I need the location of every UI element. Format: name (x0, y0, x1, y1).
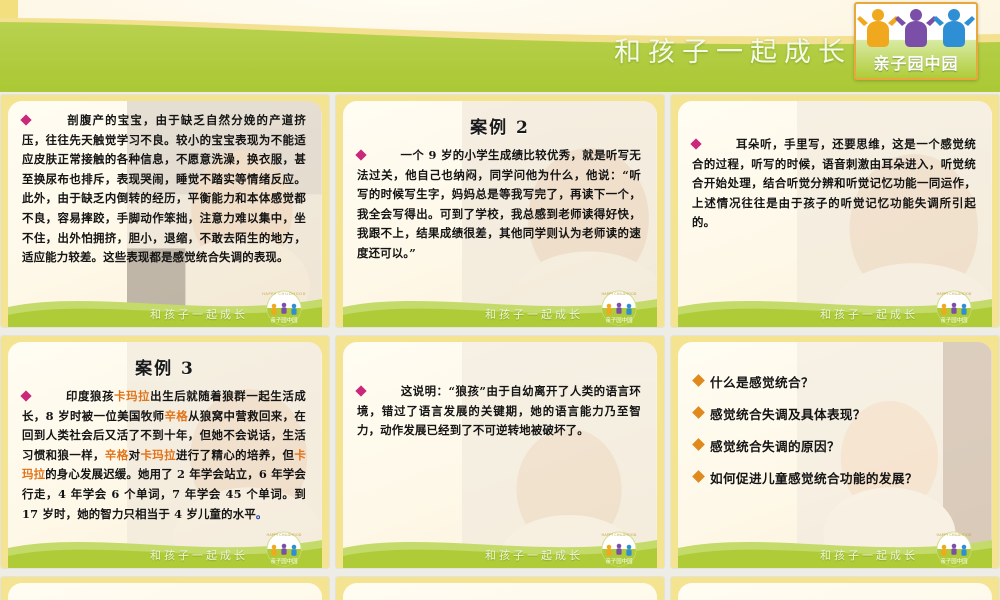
page-title: 和孩子一起成长 (614, 30, 852, 69)
slide-thumbnail-2[interactable]: 案例 2 一个 9 岁的小学生成绩比较优秀，就是听写无法过关，他自己也纳闷，同学… (336, 95, 664, 327)
slide-2-footer: 和孩子一起成长 亲子园中园 HAPPY CHILDHOOD (343, 285, 657, 327)
slide-thumbnail-9[interactable] (671, 577, 999, 600)
list-item: 什么是感觉统合？ (694, 372, 978, 391)
svg-text:亲子园中园: 亲子园中园 (271, 316, 298, 324)
slide-1-footer: 和孩子一起成长 亲子园中园 HAPPY CHILDHOOD (8, 285, 322, 327)
brand-logo: 亲子园中园 (854, 2, 978, 80)
slide-2-body: 一个 9 岁的小学生成绩比较优秀，就是听写无法过关，他自己也纳闷，同学问他为什么… (357, 138, 641, 264)
svg-text:亲子园中园: 亲子园中园 (606, 557, 633, 565)
slide-2-title: 案例 2 (343, 113, 657, 138)
slide-thumbnail-4[interactable]: 案例 3 印度狼孩卡玛拉出生后就随着狼群一起生活成长，8 岁时被一位美国牧师辛格… (1, 336, 329, 568)
footer-badge-logo: 亲子园中园 HAPPY CHILDHOOD (256, 286, 312, 326)
footer-badge-logo: 亲子园中园 HAPPY CHILDHOOD (591, 286, 647, 326)
slide-thumbnail-1[interactable]: 剖腹产的宝宝，由于缺乏自然分娩的产道挤压，往往先天触觉学习不良。较小的宝宝表现为… (1, 95, 329, 327)
slide-row-1: 剖腹产的宝宝，由于缺乏自然分娩的产道挤压，往往先天触觉学习不良。较小的宝宝表现为… (0, 95, 1000, 327)
svg-text:HAPPY CHILDHOOD: HAPPY CHILDHOOD (937, 533, 972, 537)
bullet-diamond-icon (692, 406, 705, 419)
logo-brand-text: 亲子园中园 (856, 50, 976, 74)
bullet-diamond-icon (355, 149, 366, 160)
svg-text:HAPPY CHILDHOOD: HAPPY CHILDHOOD (267, 533, 302, 537)
slide-6-question-list: 什么是感觉统合？ 感觉统合失调及具体表现？ 感觉统合失调的原因？ 如何促进儿童感… (678, 342, 992, 487)
footer-tagline: 和孩子一起成长 (150, 306, 248, 322)
footer-badge-logo: 亲子园中园 HAPPY CHILDHOOD (256, 527, 312, 567)
bullet-diamond-icon (692, 470, 705, 483)
logo-figures-icon (856, 6, 976, 48)
slide-6-footer: 和孩子一起成长 亲子园中园 HAPPY CHILDHOOD (678, 526, 992, 568)
slide-row-2: 案例 3 印度狼孩卡玛拉出生后就随着狼群一起生活成长，8 岁时被一位美国牧师辛格… (0, 336, 1000, 568)
svg-text:亲子园中园: 亲子园中园 (271, 557, 298, 565)
slide-thumbnail-8[interactable] (336, 577, 664, 600)
svg-text:HAPPY CHILDHOOD: HAPPY CHILDHOOD (602, 533, 637, 537)
footer-tagline: 和孩子一起成长 (820, 547, 918, 563)
footer-badge-logo: 亲子园中园 HAPPY CHILDHOOD (926, 527, 982, 567)
slide-3-body: 耳朵听，手里写，还要思维，这是一个感觉统合的过程，听写的时候，语音刺激由耳朵进入… (692, 101, 976, 233)
bullet-diamond-icon (690, 138, 701, 149)
slide-sorter-view: 和孩子一起成长 亲子园中园 (0, 0, 1000, 600)
bullet-diamond-icon (692, 438, 705, 451)
list-item: 感觉统合失调及具体表现？ (694, 404, 978, 423)
svg-text:亲子园中园: 亲子园中园 (941, 557, 968, 565)
slide-4-rich-text: 印度狼孩卡玛拉出生后就随着狼群一起生活成长，8 岁时被一位美国牧师辛格从狼窝中营… (22, 389, 306, 521)
slide-4-body: 印度狼孩卡玛拉出生后就随着狼群一起生活成长，8 岁时被一位美国牧师辛格从狼窝中营… (22, 379, 306, 524)
footer-tagline: 和孩子一起成长 (820, 306, 918, 322)
svg-text:HAPPY CHILDHOOD: HAPPY CHILDHOOD (602, 292, 637, 296)
header-banner: 和孩子一起成长 亲子园中园 (0, 0, 1000, 92)
slide-thumbnail-3[interactable]: 耳朵听，手里写，还要思维，这是一个感觉统合的过程，听写的时候，语音刺激由耳朵进入… (671, 95, 999, 327)
slide-thumbnail-7[interactable] (1, 577, 329, 600)
slide-5-footer: 和孩子一起成长 亲子园中园 HAPPY CHILDHOOD (343, 526, 657, 568)
svg-text:HAPPY CHILDHOOD: HAPPY CHILDHOOD (262, 292, 306, 296)
footer-tagline: 和孩子一起成长 (485, 547, 583, 563)
slide-4-footer: 和孩子一起成长 亲子园中园 HAPPY CHILDHOOD (8, 526, 322, 568)
bullet-diamond-icon (692, 374, 705, 387)
slide-4-title: 案例 3 (8, 354, 322, 379)
bullet-diamond-icon (20, 390, 31, 401)
bullet-diamond-icon (355, 385, 366, 396)
svg-text:亲子园中园: 亲子园中园 (606, 316, 633, 324)
slide-row-3 (0, 577, 1000, 600)
footer-tagline: 和孩子一起成长 (485, 306, 583, 322)
slide-1-body: 剖腹产的宝宝，由于缺乏自然分娩的产道挤压，往往先天触觉学习不良。较小的宝宝表现为… (22, 101, 306, 268)
slide-grid: 剖腹产的宝宝，由于缺乏自然分娩的产道挤压，往往先天触觉学习不良。较小的宝宝表现为… (0, 95, 1000, 600)
slide-5-body: 这说明：“狼孩”由于自幼离开了人类的语言环境，错过了语言发展的关键期，她的语言能… (357, 342, 641, 441)
slide-thumbnail-6[interactable]: 什么是感觉统合？ 感觉统合失调及具体表现？ 感觉统合失调的原因？ 如何促进儿童感… (671, 336, 999, 568)
footer-badge-logo: 亲子园中园 HAPPY CHILDHOOD (926, 286, 982, 326)
bullet-diamond-icon (20, 114, 31, 125)
list-item: 感觉统合失调的原因？ (694, 436, 978, 455)
slide-thumbnail-5[interactable]: 这说明：“狼孩”由于自幼离开了人类的语言环境，错过了语言发展的关键期，她的语言能… (336, 336, 664, 568)
list-item: 如何促进儿童感觉统合功能的发展？ (694, 468, 978, 487)
svg-text:HAPPY CHILDHOOD: HAPPY CHILDHOOD (937, 292, 972, 296)
footer-tagline: 和孩子一起成长 (150, 547, 248, 563)
slide-3-footer: 和孩子一起成长 亲子园中园 HAPPY CHILDHOOD (678, 285, 992, 327)
footer-badge-logo: 亲子园中园 HAPPY CHILDHOOD (591, 527, 647, 567)
svg-text:亲子园中园: 亲子园中园 (941, 316, 968, 324)
